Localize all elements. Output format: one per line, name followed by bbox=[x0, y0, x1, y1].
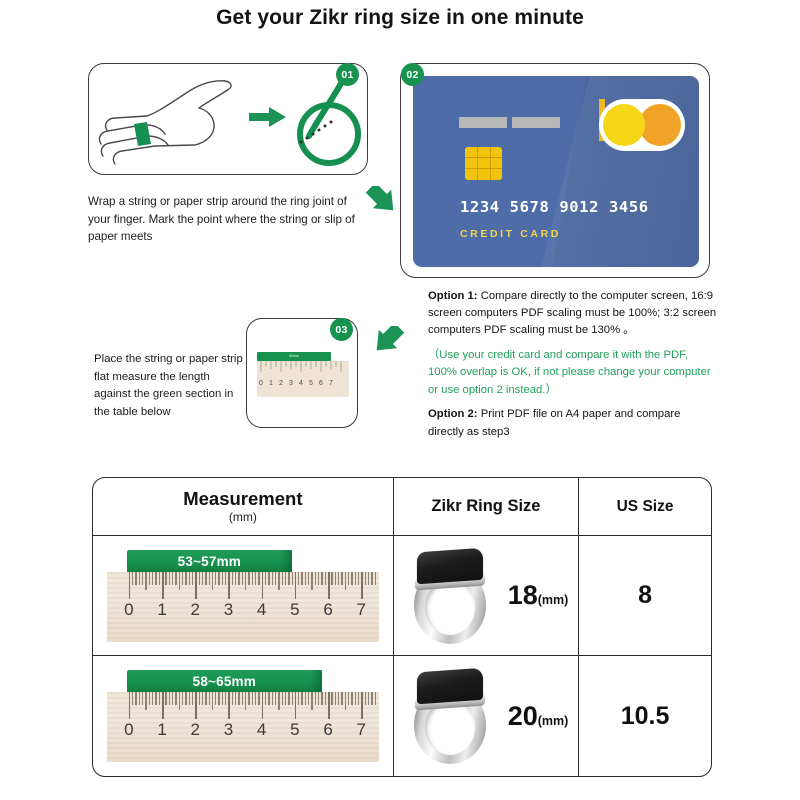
header-us-size-label: US Size bbox=[617, 498, 674, 516]
measurement-range-bar: 53~57mm bbox=[127, 550, 292, 573]
measurement-cell: 53~57mm 01234567 bbox=[93, 536, 393, 655]
arrow-right-icon bbox=[249, 106, 287, 128]
string-loop-icon bbox=[285, 70, 365, 170]
ruler-ticks bbox=[107, 692, 379, 720]
ruler-graphic: 58~65mm 01234567 bbox=[107, 668, 379, 764]
us-size-value: 10.5 bbox=[621, 702, 670, 731]
ring-size-unit: (mm) bbox=[538, 593, 569, 607]
arrow-down-right-icon bbox=[362, 186, 402, 226]
ruler-tick-label: 4 bbox=[257, 720, 266, 740]
measurement-range-label: 53~57mm bbox=[178, 554, 241, 569]
option-2-line: Option 2: Print PDF file on A4 paper and… bbox=[428, 406, 718, 440]
step-1-caption: Wrap a string or paper strip around the … bbox=[88, 193, 366, 246]
svg-text:4: 4 bbox=[299, 380, 303, 387]
us-size-value: 8 bbox=[638, 581, 652, 610]
header-measurement-label: Measurement bbox=[183, 489, 302, 508]
ruler-tick-label: 2 bbox=[191, 600, 200, 620]
ruler-tick-label: 1 bbox=[157, 600, 166, 620]
mini-green-bar: 60mm bbox=[257, 352, 331, 361]
header-measurement: Measurement (mm) bbox=[93, 478, 393, 535]
ring-size-cell: 20(mm) bbox=[393, 656, 578, 776]
ruler-numbers: 01234567 bbox=[107, 600, 379, 630]
ruler-tick-label: 0 bbox=[124, 720, 133, 740]
ring-size-value: 18 bbox=[508, 580, 538, 610]
card-stripe-1 bbox=[459, 117, 507, 128]
page-title: Get your Zikr ring size in one minute bbox=[0, 6, 800, 30]
option-note-green: （Use your credit card and compare it wit… bbox=[428, 347, 718, 400]
card-logo-icon bbox=[599, 99, 685, 151]
ring-size-value-group: 20(mm) bbox=[508, 701, 569, 732]
card-label: CREDIT CARD bbox=[460, 228, 561, 240]
ruler-tick-label: 6 bbox=[323, 720, 332, 740]
arrow-down-left-icon bbox=[368, 326, 408, 366]
card-number: 1234 5678 9012 3456 bbox=[460, 198, 675, 216]
ruler-tick-label: 6 bbox=[323, 600, 332, 620]
options-text-block: Option 1: Compare directly to the comput… bbox=[428, 288, 718, 441]
hand-with-string-icon bbox=[95, 72, 245, 168]
ruler-tick-label: 3 bbox=[224, 720, 233, 740]
ruler-tick-label: 3 bbox=[224, 600, 233, 620]
svg-text:1: 1 bbox=[269, 380, 273, 387]
ruler-tick-label: 7 bbox=[357, 720, 366, 740]
table-header-row: Measurement (mm) Zikr Ring Size US Size bbox=[93, 478, 711, 536]
ruler-ticks bbox=[107, 572, 379, 600]
step-badge-03: 03 bbox=[330, 318, 353, 341]
measurement-range-bar: 58~65mm bbox=[127, 670, 322, 693]
ruler-tick-label: 2 bbox=[191, 720, 200, 740]
size-table: Measurement (mm) Zikr Ring Size US Size … bbox=[92, 477, 712, 777]
ruler-numbers: 01234567 bbox=[107, 720, 379, 750]
ruler-tick-label: 5 bbox=[290, 600, 299, 620]
step-3-caption: Place the string or paper strip flat mea… bbox=[94, 351, 244, 421]
table-row: 58~65mm 01234567 20(mm) bbox=[93, 656, 711, 776]
mini-ruler-icon: 012 345 67 bbox=[257, 361, 349, 397]
us-size-cell: 8 bbox=[578, 536, 711, 655]
ring-size-unit: (mm) bbox=[538, 714, 569, 728]
credit-card-graphic: 1234 5678 9012 3456 CREDIT CARD bbox=[413, 76, 699, 267]
us-size-cell: 10.5 bbox=[578, 656, 711, 776]
step-badge-02: 02 bbox=[401, 63, 424, 86]
svg-text:5: 5 bbox=[309, 380, 313, 387]
svg-text:3: 3 bbox=[289, 380, 293, 387]
option-1-label: Option 1: bbox=[428, 290, 478, 302]
step-2-credit-card-panel: 1234 5678 9012 3456 CREDIT CARD bbox=[400, 63, 710, 278]
step-1-illustration-panel bbox=[88, 63, 368, 175]
table-row: 53~57mm 01234567 18(mm) bbox=[93, 536, 711, 656]
ring-size-cell: 18(mm) bbox=[393, 536, 578, 655]
option-1-line: Option 1: Compare directly to the comput… bbox=[428, 288, 718, 340]
header-ring-size-label: Zikr Ring Size bbox=[431, 497, 540, 516]
zikr-ring-icon bbox=[408, 546, 492, 646]
header-ring-size: Zikr Ring Size bbox=[393, 478, 578, 535]
svg-text:6: 6 bbox=[319, 380, 323, 387]
mini-green-bar-label: 60mm bbox=[257, 352, 331, 361]
measurement-range-label: 58~65mm bbox=[193, 674, 256, 689]
ring-size-guide-page: Get your Zikr ring size in one minute bbox=[0, 0, 800, 800]
card-stripe-2 bbox=[512, 117, 560, 128]
ruler-tick-label: 0 bbox=[124, 600, 133, 620]
ring-size-value-group: 18(mm) bbox=[508, 580, 569, 611]
ring-size-value: 20 bbox=[508, 701, 538, 731]
svg-text:7: 7 bbox=[329, 380, 333, 387]
step-badge-01: 01 bbox=[336, 63, 359, 86]
header-measurement-unit: (mm) bbox=[229, 511, 257, 524]
card-chip-icon bbox=[465, 147, 502, 180]
ruler-tick-label: 1 bbox=[157, 720, 166, 740]
ruler-tick-label: 4 bbox=[257, 600, 266, 620]
ruler-tick-label: 5 bbox=[290, 720, 299, 740]
ruler-graphic: 53~57mm 01234567 bbox=[107, 548, 379, 644]
svg-text:2: 2 bbox=[279, 380, 283, 387]
zikr-ring-icon bbox=[408, 666, 492, 766]
svg-text:0: 0 bbox=[259, 380, 263, 387]
ruler-tick-label: 7 bbox=[357, 600, 366, 620]
measurement-cell: 58~65mm 01234567 bbox=[93, 656, 393, 776]
option-2-label: Option 2: bbox=[428, 408, 478, 420]
header-us-size: US Size bbox=[578, 478, 711, 535]
